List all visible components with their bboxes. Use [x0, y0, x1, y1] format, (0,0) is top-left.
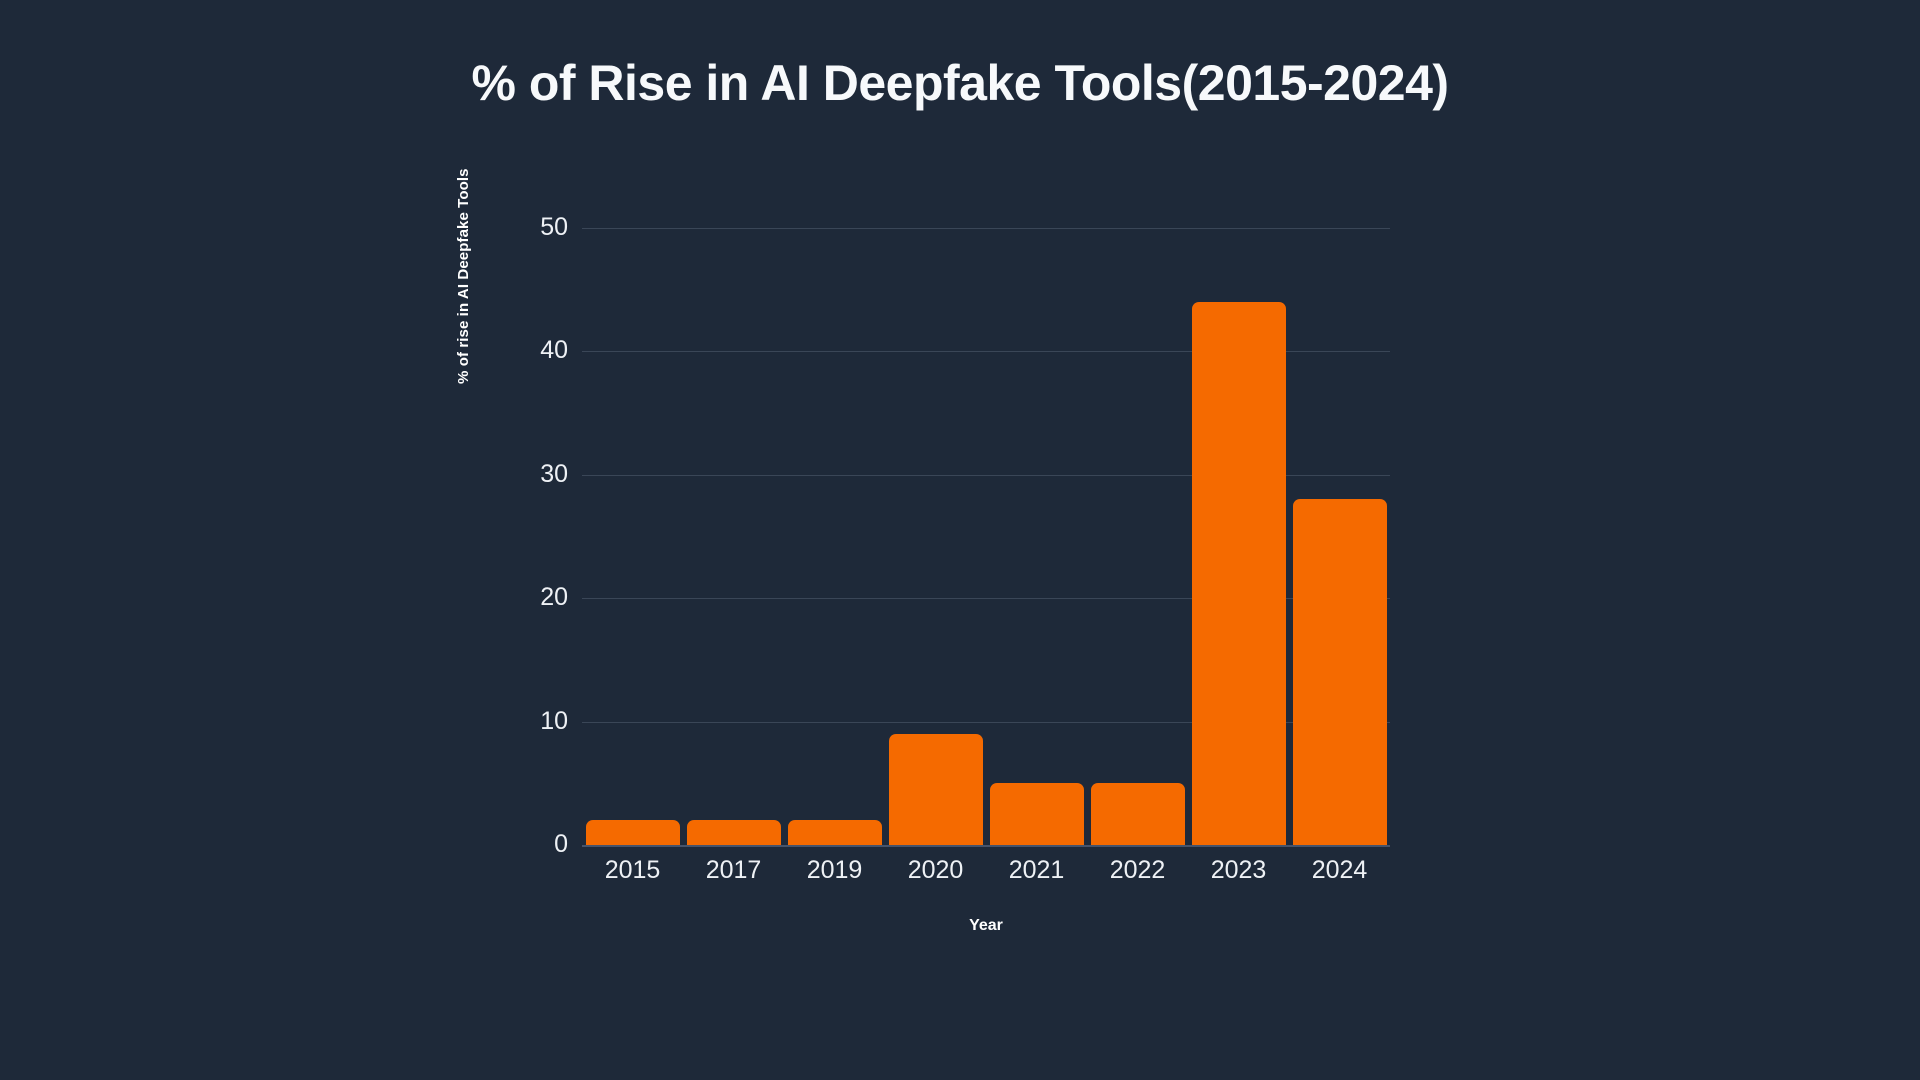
bar-slot — [885, 228, 986, 845]
bar-2022[interactable] — [1091, 783, 1185, 845]
y-axis-title: % of rise in AI Deepfake Tools — [455, 124, 472, 384]
x-axis-title: Year — [582, 917, 1390, 935]
x-tick-label: 2024 — [1289, 856, 1390, 885]
x-tick-label: 2020 — [885, 856, 986, 885]
x-axis-line — [582, 845, 1390, 847]
x-tick-label: 2023 — [1188, 856, 1289, 885]
bar-2015[interactable] — [586, 820, 680, 845]
bar-series — [582, 228, 1390, 845]
bar-slot — [986, 228, 1087, 845]
bar-2021[interactable] — [990, 783, 1084, 845]
x-tick-label: 2019 — [784, 856, 885, 885]
x-tick-label: 2021 — [986, 856, 1087, 885]
y-tick-label: 0 — [508, 832, 568, 857]
bar-slot — [683, 228, 784, 845]
x-axis-ticks: 20152017201920202021202220232024 — [582, 856, 1390, 885]
bar-2019[interactable] — [788, 820, 882, 845]
bar-slot — [1289, 228, 1390, 845]
bar-2023[interactable] — [1192, 302, 1286, 845]
bar-slot — [1087, 228, 1188, 845]
x-tick-label: 2017 — [683, 856, 784, 885]
bar-slot — [1188, 228, 1289, 845]
y-tick-label: 30 — [508, 462, 568, 487]
y-tick-label: 20 — [508, 585, 568, 610]
chart-page: % of Rise in AI Deepfake Tools(2015-2024… — [0, 0, 1920, 1080]
x-tick-label: 2015 — [582, 856, 683, 885]
bar-2020[interactable] — [889, 734, 983, 845]
bar-slot — [582, 228, 683, 845]
bar-2024[interactable] — [1293, 499, 1387, 845]
x-tick-label: 2022 — [1087, 856, 1188, 885]
bar-2017[interactable] — [687, 820, 781, 845]
bar-slot — [784, 228, 885, 845]
y-tick-label: 50 — [508, 215, 568, 240]
y-tick-label: 10 — [508, 709, 568, 734]
y-tick-label: 40 — [508, 338, 568, 363]
